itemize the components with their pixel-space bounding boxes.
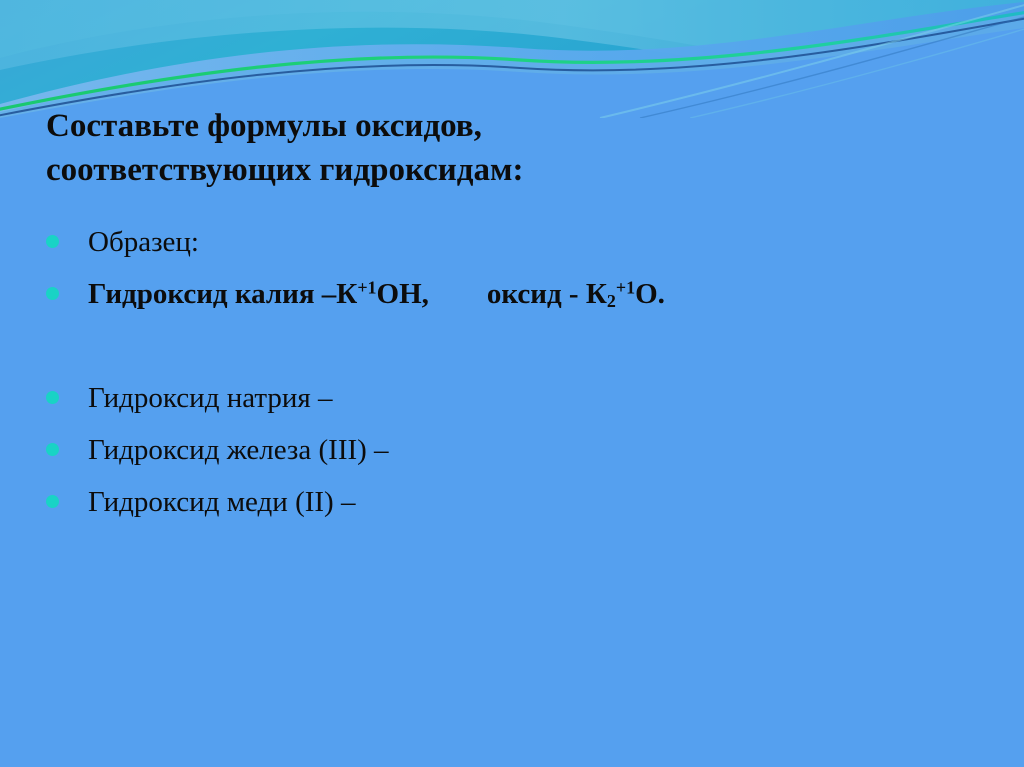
formula-oxide-label: оксид - К: [487, 278, 607, 310]
bullet-text-copper-ii-hydroxide: Гидроксид меди (II) –: [88, 482, 976, 522]
formula-charge-1: +1: [357, 278, 376, 298]
list-item: Гидроксид меди (II) –: [46, 482, 976, 534]
bullet-dot-icon: [46, 287, 59, 300]
formula-charge-2: +1: [616, 278, 635, 298]
bullet-dot-icon: [46, 391, 59, 404]
decorative-header-wave: [0, 0, 1024, 118]
page-title: Составьте формулы оксидов, соответствующ…: [46, 104, 946, 192]
header-wave-svg: [0, 0, 1024, 118]
slide-canvas: Составьте формулы оксидов, соответствующ…: [0, 0, 1024, 767]
bullet-text-sample-label: Образец:: [88, 222, 976, 262]
list-item: Гидроксид натрия –: [46, 378, 976, 430]
formula-tail: О.: [635, 278, 665, 310]
bullet-dot-icon: [46, 235, 59, 248]
title-line-2: соответствующих гидроксидам:: [46, 148, 946, 192]
bullet-dot-icon: [46, 495, 59, 508]
bullet-list: Образец: Гидроксид калия –К+1ОН,оксид - …: [46, 222, 976, 534]
title-line-1: Составьте формулы оксидов,: [46, 104, 946, 148]
formula-mid: ОН,: [377, 278, 429, 310]
list-item: Гидроксид железа (III) –: [46, 430, 976, 482]
bullet-dot-icon: [46, 443, 59, 456]
bullet-text-sodium-hydroxide: Гидроксид натрия –: [88, 378, 976, 418]
formula-subscript-2: 2: [607, 291, 616, 311]
list-item: Образец:: [46, 222, 976, 274]
bullet-text-potassium-hydroxide-example: Гидроксид калия –К+1ОН,оксид - К2+1О.: [88, 274, 976, 314]
bullet-text-iron-iii-hydroxide: Гидроксид железа (III) –: [88, 430, 976, 470]
formula-lead: Гидроксид калия –К: [88, 278, 357, 310]
list-item: Гидроксид калия –К+1ОН,оксид - К2+1О.: [46, 274, 976, 326]
